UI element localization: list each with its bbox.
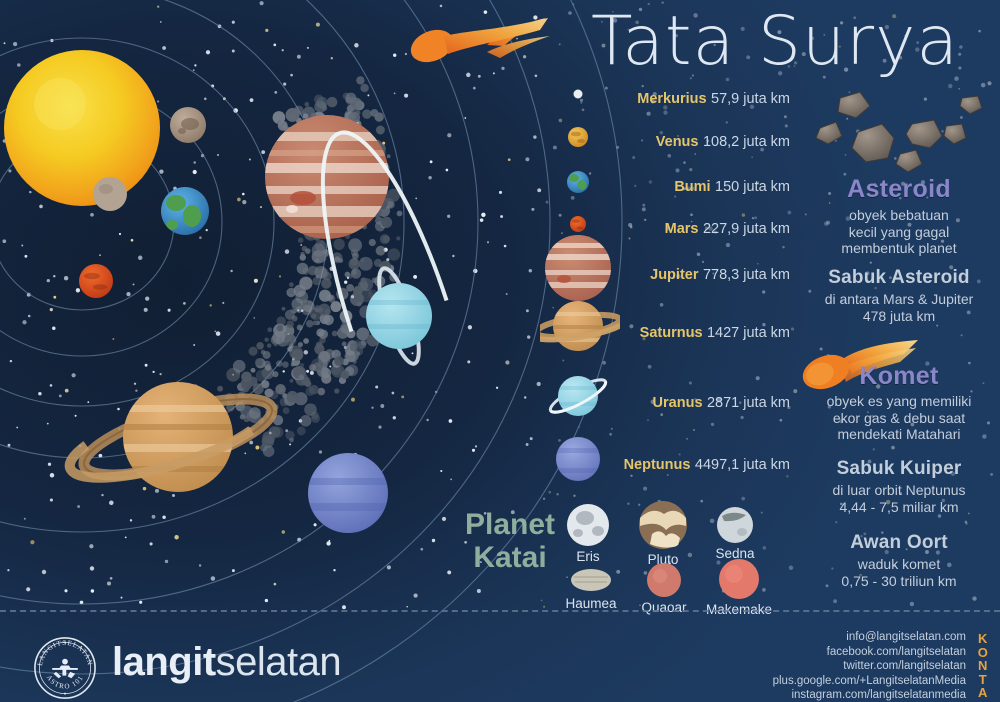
- infographic-poster: Tata Surya: [0, 0, 1000, 702]
- dwarf-planet-pluto: Pluto: [626, 500, 700, 567]
- page-title: Tata Surya: [565, 2, 985, 81]
- saturn-diagram: [65, 382, 279, 494]
- mars-diagram: [79, 264, 113, 298]
- awan-oort-desc-2: 0,75 - 30 triliun km: [800, 573, 998, 590]
- haumea-icon: [570, 566, 612, 594]
- dwarf-planet-label: Haumea: [554, 596, 628, 611]
- contact-list: info@langitselatan.com facebook.com/lang…: [636, 630, 966, 702]
- planet-distance: 150 juta km: [715, 179, 790, 195]
- asteroid-desc-3: membentuk planet: [800, 240, 998, 257]
- mercury-icon: [574, 90, 583, 99]
- comet-diagram: [406, 18, 550, 68]
- makemake-icon: [718, 558, 760, 600]
- jupiter-icon: [542, 235, 616, 301]
- planet-row: Uranus 2871 juta km: [653, 394, 790, 412]
- asteroid-section: Asteroid obyek bebatuan kecil yang gagal…: [800, 175, 998, 257]
- planet-name: Venus: [656, 134, 699, 150]
- planet-name: Neptunus: [624, 457, 691, 473]
- planet-row: Bumi 150 juta km: [674, 178, 790, 196]
- planet-distance: 778,3 juta km: [703, 267, 790, 283]
- planet-row: Merkurius 57,9 juta km: [637, 90, 790, 108]
- brand-bold: langit: [112, 640, 216, 684]
- uranus-icon: [547, 374, 609, 417]
- sabuk-kuiper-heading: Sabuk Kuiper: [800, 458, 998, 480]
- langitselatan-logo-icon[interactable]: LANGITSELATAN ASTRO 101: [33, 636, 97, 700]
- dwarf-planet-eris: Eris: [551, 503, 625, 564]
- contact-twitter[interactable]: twitter.com/langitselatan: [636, 659, 966, 674]
- contact-facebook[interactable]: facebook.com/langitselatan: [636, 645, 966, 660]
- dwarf-heading-line1: Planet: [455, 508, 565, 541]
- contact-instagram[interactable]: instagram.com/langitselatanmedia: [636, 688, 966, 702]
- dwarf-planets-heading: Planet Katai: [455, 508, 565, 574]
- neptune-icon: [554, 437, 604, 481]
- planet-name: Bumi: [674, 179, 710, 195]
- dwarf-planet-quaoar: Quaoar: [627, 562, 701, 615]
- komet-desc-3: mendekati Matahari: [800, 426, 998, 443]
- sabuk-asteroid-heading: Sabuk Asteroid: [800, 267, 998, 289]
- dwarf-heading-line2: Katai: [455, 541, 565, 574]
- contact-email[interactable]: info@langitselatan.com: [636, 630, 966, 645]
- planet-row: Neptunus 4497,1 juta km: [624, 456, 790, 474]
- moon-body: [93, 177, 127, 211]
- asteroid-desc-2: kecil yang gagal: [800, 224, 998, 241]
- planet-row: Saturnus 1427 juta km: [640, 324, 790, 342]
- sedna-icon: [716, 506, 754, 544]
- sabuk-kuiper-section: Sabuk Kuiper di luar orbit Neptunus 4,44…: [800, 458, 998, 515]
- kontak-vertical-label: KONTAK: [972, 632, 994, 702]
- planet-icon-column: [540, 82, 620, 486]
- planet-distance: 4497,1 juta km: [695, 457, 790, 473]
- planet-distance: 227,9 juta km: [703, 221, 790, 237]
- venus-icon: [568, 127, 588, 147]
- planet-distance: 1427 juta km: [707, 325, 790, 341]
- mercury-diagram: [170, 107, 206, 143]
- planet-name: Mars: [665, 221, 699, 237]
- sabuk-asteroid-desc-1: di antara Mars & Jupiter: [800, 291, 998, 308]
- earth-icon: [567, 171, 589, 193]
- komet-desc-1: obyek es yang memiliki: [800, 393, 998, 410]
- awan-oort-section: Awan Oort waduk komet 0,75 - 30 triliun …: [800, 532, 998, 589]
- sun: [4, 50, 160, 206]
- quaoar-icon: [646, 562, 682, 598]
- earth-diagram: [161, 187, 209, 235]
- sabuk-asteroid-section: Sabuk Asteroid di antara Mars & Jupiter …: [800, 267, 998, 324]
- planet-distance: 57,9 juta km: [711, 91, 790, 107]
- komet-section: Komet obyek es yang memiliki ekor gas & …: [800, 362, 998, 443]
- dwarf-planet-label: Eris: [551, 549, 625, 564]
- planet-name: Saturnus: [640, 325, 703, 341]
- pluto-icon: [638, 500, 688, 550]
- planet-name: Uranus: [653, 395, 703, 411]
- sabuk-kuiper-desc-1: di luar orbit Neptunus: [800, 482, 998, 499]
- planet-name: Jupiter: [650, 267, 698, 283]
- dwarf-planet-sedna: Sedna: [698, 506, 772, 561]
- planet-distance: 108,2 juta km: [703, 134, 790, 150]
- mars-icon: [570, 216, 586, 232]
- komet-heading: Komet: [800, 362, 998, 391]
- awan-oort-desc-1: waduk komet: [800, 556, 998, 573]
- asteroid-cluster-icon: [812, 86, 998, 182]
- planet-row: Mars 227,9 juta km: [665, 220, 790, 238]
- contact-gplus[interactable]: plus.google.com/+LangitselatanMedia: [636, 674, 966, 689]
- dwarf-planet-makemake: Makemake: [702, 558, 776, 617]
- footer: LANGITSELATAN ASTRO 101 langitselatan in…: [0, 612, 1000, 702]
- awan-oort-heading: Awan Oort: [800, 532, 998, 554]
- eris-icon: [566, 503, 610, 547]
- planet-row: Venus 108,2 juta km: [656, 133, 790, 151]
- sabuk-kuiper-desc-2: 4,44 - 7,5 miliar km: [800, 499, 998, 516]
- planet-distance-list: Merkurius 57,9 juta km Venus 108,2 juta …: [540, 86, 790, 486]
- brand-wordmark[interactable]: langitselatan: [112, 640, 341, 685]
- sabuk-asteroid-desc-2: 478 juta km: [800, 308, 998, 325]
- neptune-diagram: [306, 453, 396, 533]
- saturn-icon: [540, 301, 620, 351]
- brand-light: selatan: [216, 640, 341, 684]
- planet-distance: 2871 juta km: [707, 395, 790, 411]
- dwarf-planet-haumea: Haumea: [554, 566, 628, 611]
- svg-text:ASTRO 101: ASTRO 101: [45, 674, 86, 691]
- planet-row: Jupiter 778,3 juta km: [650, 266, 790, 284]
- asteroid-desc-1: obyek bebatuan: [800, 207, 998, 224]
- logo-bottom-text: ASTRO 101: [45, 674, 86, 691]
- komet-desc-2: ekor gas & debu saat: [800, 410, 998, 427]
- planet-name: Merkurius: [637, 91, 706, 107]
- asteroid-heading: Asteroid: [800, 175, 998, 204]
